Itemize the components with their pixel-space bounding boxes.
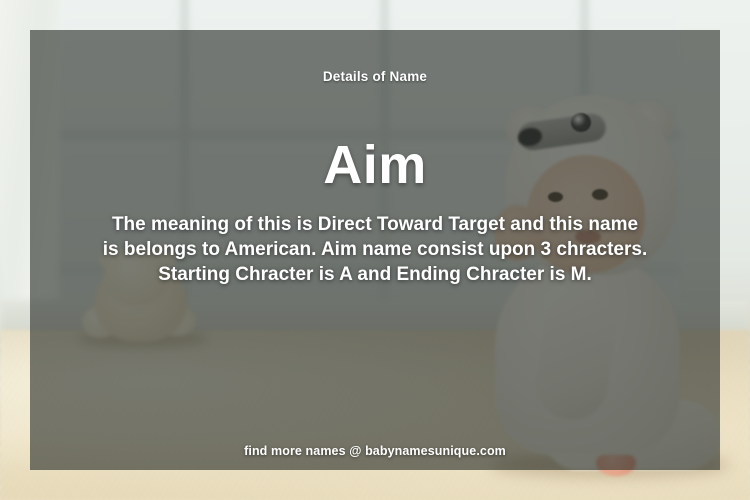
name-detail-card: Details of Name Aim The meaning of this … (0, 0, 750, 500)
card-content: Details of Name Aim The meaning of this … (30, 30, 720, 470)
card-kicker: Details of Name (30, 69, 720, 84)
meaning-line-2: is belongs to American. Aim name consist… (65, 237, 685, 262)
footer-credit: find more names @ babynamesunique.com (30, 444, 720, 458)
meaning-line-3: Starting Chracter is A and Ending Chract… (65, 262, 685, 287)
meaning-line-1: The meaning of this is Direct Toward Tar… (65, 212, 685, 237)
page-title: Aim (30, 138, 720, 192)
meaning-paragraph: The meaning of this is Direct Toward Tar… (65, 212, 685, 287)
